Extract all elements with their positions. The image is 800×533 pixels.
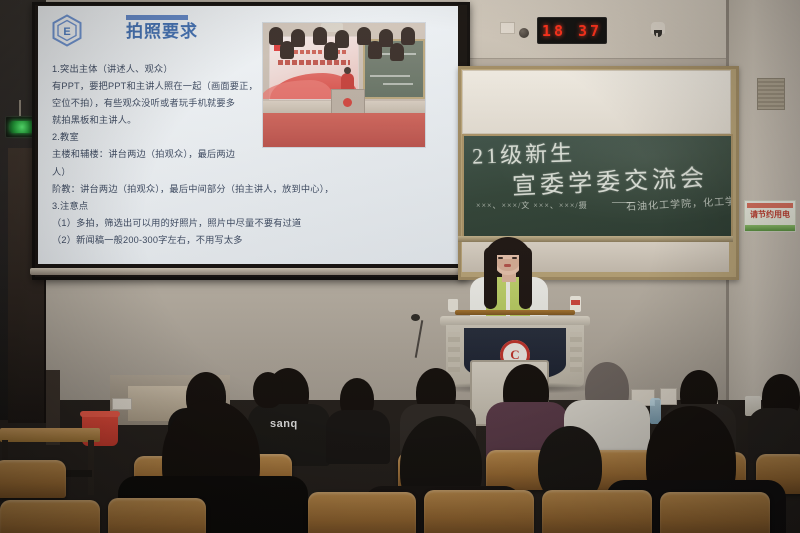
wall-sensor [500, 22, 515, 34]
light-switch-plate [112, 398, 132, 410]
slide-title: 拍照要求 [126, 22, 198, 42]
save-electricity-poster: 请节约用电 [744, 200, 796, 232]
slide-title-accent-bar [126, 15, 188, 20]
blackboard-line-2: 宣委学委交流会 [511, 158, 708, 202]
slide-inset-photo [262, 22, 426, 148]
lecture-hall-photo: E 拍照要求 1.突出主体（讲述人、观众） 有PPT，要把PPT和主讲人照在一起… [0, 0, 800, 533]
blackboard-credits: ×××、×××/文 ×××、×××/摄 [476, 200, 588, 211]
seat-back [0, 460, 66, 498]
wall-vent [757, 78, 785, 110]
poster-text: 请节约用电 [746, 209, 794, 220]
clock-time: 18 37 [542, 22, 602, 40]
seat-back-front [542, 490, 652, 533]
seat-back-front [108, 498, 206, 533]
projection-screen: E 拍照要求 1.突出主体（讲述人、观众） 有PPT，要把PPT和主讲人照在一起… [38, 6, 458, 264]
screen-bottom-bar [30, 268, 470, 275]
audience-shirt-logo: sanq [270, 418, 298, 430]
audience-head [253, 372, 283, 408]
blackboard-signature: 石油化工学院，化工学院 [626, 192, 733, 213]
digital-clock: 18 37 [537, 17, 607, 44]
blackboard-dash: —— [612, 196, 634, 208]
camera-arm [656, 33, 658, 51]
wall-knob [519, 28, 529, 38]
blackboard: 21级新生 宣委学委交流会 —— 石油化工学院，化工学院 ×××、×××/文 ×… [462, 134, 733, 240]
seat-back-front [0, 500, 100, 533]
podium-desk-edge [455, 310, 575, 315]
ceiling-camera-icon [651, 22, 665, 34]
wooden-side-desk [0, 428, 100, 442]
svg-text:E: E [63, 26, 70, 38]
audience-body [326, 410, 390, 464]
seat-back-front [660, 492, 770, 533]
whiteboard [462, 70, 731, 134]
seat-back-front [424, 490, 534, 533]
wall-plate-2 [660, 388, 677, 405]
hexagon-e-logo: E [52, 14, 82, 47]
seat-back-front [308, 492, 416, 533]
microphone-icon [411, 314, 420, 321]
blackboard-line-1: 21级新生 [471, 135, 575, 171]
